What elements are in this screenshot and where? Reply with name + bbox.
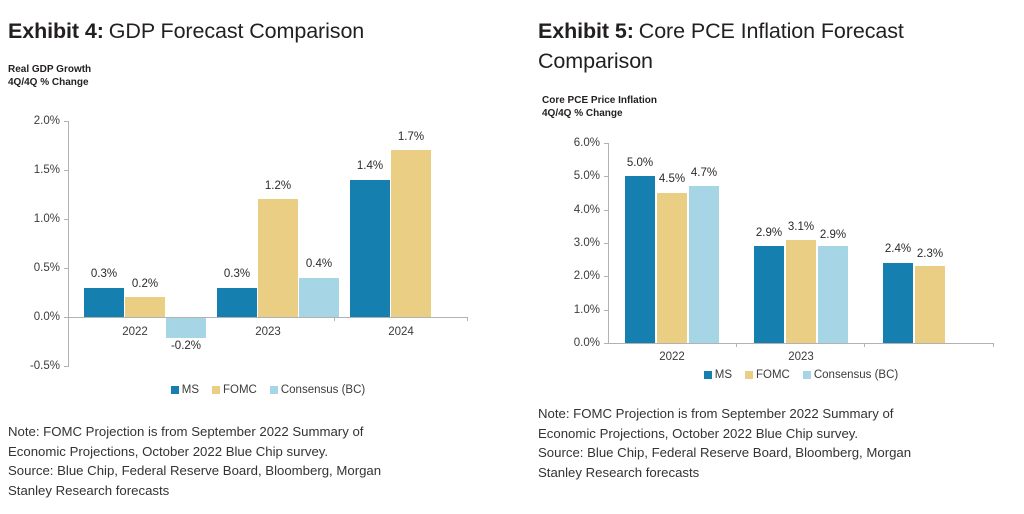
x-axis-line — [608, 343, 994, 344]
legend-label-consensus: Consensus (BC) — [281, 384, 365, 396]
legend-swatch-fomc-icon — [212, 386, 220, 394]
x-tick-label-2022: 2022 — [642, 351, 702, 363]
legend-swatch-ms-icon — [171, 386, 179, 394]
x-tick-label-2022: 2022 — [105, 326, 165, 338]
x-tick-label-2024: 2024 — [371, 326, 431, 338]
y-tick-label: 1.5% — [0, 164, 60, 176]
bar-consensus-2023 — [818, 246, 848, 343]
y-tick-label: -0.5% — [0, 360, 60, 372]
y-tick-mark — [64, 170, 68, 171]
bar-label-consensus-2022: -0.2% — [156, 340, 216, 352]
exhibit-5-footnote: Note: FOMC Projection is from September … — [538, 404, 1018, 482]
bar-ms-2023 — [217, 288, 257, 317]
y-tick-mark — [64, 219, 68, 220]
y-tick-label: 2.0% — [0, 115, 60, 127]
legend-label-consensus: Consensus (BC) — [814, 369, 898, 381]
y-tick-label: 2.0% — [540, 270, 600, 282]
legend-swatch-ms-icon — [704, 371, 712, 379]
bar-consensus-2022 — [689, 186, 719, 343]
bar-label-consensus-2023: 0.4% — [289, 258, 349, 270]
y-tick-mark — [604, 243, 608, 244]
legend-swatch-consensus-icon — [803, 371, 811, 379]
x-tick-label-2023: 2023 — [238, 326, 298, 338]
bar-fomc-2022 — [657, 193, 687, 343]
y-tick-label: 5.0% — [540, 170, 600, 182]
bar-label-fomc-2022: 0.2% — [115, 278, 175, 290]
exhibit-4-panel: Exhibit 4:GDP Forecast Comparison Real G… — [0, 0, 512, 514]
bar-fomc-2023 — [786, 240, 816, 343]
legend-label-ms: MS — [182, 384, 199, 396]
core-pce-forecast-chart: 6.0% 5.0% 4.0% 3.0% 2.0% 1.0% 0.0% 5.0% … — [530, 0, 1024, 370]
y-tick-mark — [604, 343, 608, 344]
bar-consensus-2022 — [166, 318, 206, 338]
legend-item-ms[interactable]: MS — [171, 384, 199, 396]
core-pce-chart-legend: MS FOMC Consensus (BC) — [608, 366, 994, 384]
y-tick-mark — [64, 121, 68, 122]
bar-consensus-2023 — [299, 278, 339, 317]
y-tick-mark — [604, 210, 608, 211]
bar-label-fomc-2024: 2.3% — [900, 248, 960, 260]
bar-fomc-2024 — [391, 150, 431, 317]
x-tick-label-2023: 2023 — [771, 351, 831, 363]
legend-label-ms: MS — [715, 369, 732, 381]
x-tick-mark — [334, 317, 335, 321]
y-axis-line — [608, 143, 609, 343]
y-tick-label: 0.0% — [0, 311, 60, 323]
gdp-forecast-chart: 2.0% 1.5% 1.0% 0.5% 0.0% -0.5% 0.3% 0.2% — [0, 0, 512, 380]
legend-item-ms[interactable]: MS — [704, 369, 732, 381]
y-tick-mark — [64, 317, 68, 318]
y-tick-mark — [64, 268, 68, 269]
y-tick-label: 6.0% — [540, 137, 600, 149]
y-tick-label: 1.0% — [540, 304, 600, 316]
bar-label-fomc-2024: 1.7% — [381, 131, 441, 143]
legend-item-consensus[interactable]: Consensus (BC) — [803, 369, 898, 381]
x-axis-line — [68, 317, 468, 318]
bar-label-ms-2022: 5.0% — [610, 157, 670, 169]
y-tick-label: 4.0% — [540, 204, 600, 216]
legend-item-fomc[interactable]: FOMC — [212, 384, 257, 396]
legend-item-fomc[interactable]: FOMC — [745, 369, 790, 381]
y-tick-mark — [604, 310, 608, 311]
exhibits-page: Exhibit 4:GDP Forecast Comparison Real G… — [0, 0, 1024, 514]
y-axis-line — [68, 121, 69, 367]
bar-ms-2022 — [84, 288, 124, 317]
y-tick-mark — [64, 366, 68, 367]
legend-item-consensus[interactable]: Consensus (BC) — [270, 384, 365, 396]
legend-swatch-fomc-icon — [745, 371, 753, 379]
bar-ms-2022 — [625, 176, 655, 343]
bar-ms-2024 — [883, 263, 913, 343]
x-tick-mark — [467, 317, 468, 321]
x-tick-mark — [736, 343, 737, 347]
gdp-chart-legend: MS FOMC Consensus (BC) — [68, 381, 468, 399]
y-tick-mark — [604, 276, 608, 277]
bar-label-fomc-2023: 1.2% — [248, 180, 308, 192]
x-tick-mark — [993, 343, 994, 347]
bar-fomc-2022 — [125, 297, 165, 317]
y-tick-label: 1.0% — [0, 213, 60, 225]
bar-label-consensus-2023: 2.9% — [803, 229, 863, 241]
legend-label-fomc: FOMC — [223, 384, 257, 396]
bar-label-consensus-2022: 4.7% — [674, 167, 734, 179]
x-tick-mark — [864, 343, 865, 347]
bar-ms-2023 — [754, 246, 784, 343]
y-tick-mark — [604, 143, 608, 144]
exhibit-4-footnote: Note: FOMC Projection is from September … — [8, 422, 498, 500]
exhibit-5-panel: Exhibit 5:Core PCE Inflation Forecast Co… — [530, 0, 1024, 514]
legend-label-fomc: FOMC — [756, 369, 790, 381]
y-tick-label: 3.0% — [540, 237, 600, 249]
bar-ms-2024 — [350, 180, 390, 317]
legend-swatch-consensus-icon — [270, 386, 278, 394]
y-tick-mark — [604, 176, 608, 177]
bar-fomc-2024 — [915, 266, 945, 343]
y-tick-label: 0.5% — [0, 262, 60, 274]
y-tick-label: 0.0% — [540, 337, 600, 349]
